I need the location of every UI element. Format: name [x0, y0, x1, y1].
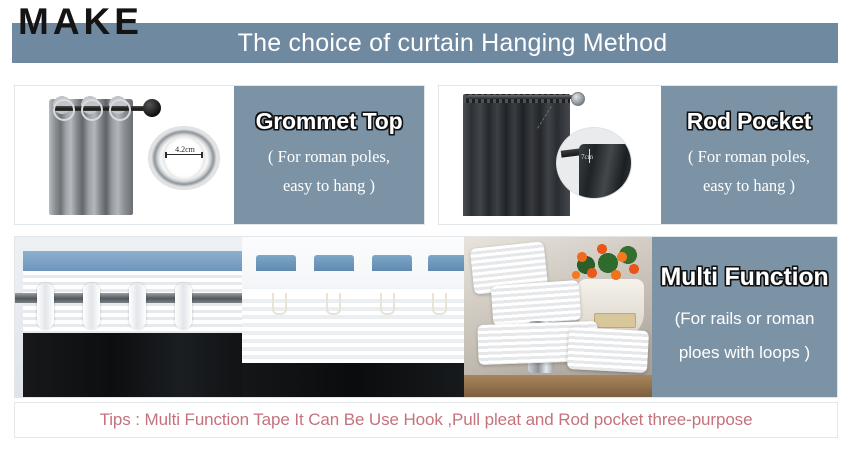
grommet-dimension-arrow-icon — [165, 154, 203, 155]
tips-text: Tips : Multi Function Tape It Can Be Use… — [100, 410, 753, 430]
tape-roll — [491, 280, 582, 326]
valance-rail-illustration — [15, 237, 242, 397]
black-curtain-body — [242, 363, 464, 397]
pleat-tape-hooks-illustration — [242, 237, 464, 397]
rod-pocket-label-panel: Rod Pocket ( For roman poles, easy to ha… — [661, 86, 837, 224]
rod-pocket-photo-canvas: 7cm — [439, 86, 661, 224]
wood-table-surface — [464, 375, 652, 397]
multi-function-photo-1 — [15, 237, 242, 397]
grommet-top-title: Grommet Top — [256, 108, 403, 135]
blue-pleat-fold — [428, 255, 464, 271]
multi-function-subtitle-line1: (For rails or roman — [675, 302, 815, 336]
blue-pleat-fold — [372, 255, 412, 271]
rod-pocket-closeup: 7cm — [556, 127, 632, 199]
black-curtain-body — [23, 333, 242, 397]
multi-function-title: Multi Function — [661, 263, 829, 292]
tape-roll — [567, 327, 649, 373]
grommet-ring-icon — [109, 99, 131, 121]
card-rod-pocket: 7cm Rod Pocket ( For roman poles, easy t… — [438, 85, 838, 225]
grommet-ring-icon — [53, 99, 75, 121]
rod-pocket-subtitle-line2: easy to hang ) — [703, 172, 795, 201]
multi-function-subtitle-line2: ploes with loops ) — [679, 336, 810, 370]
curtain-hook-icon — [175, 283, 192, 329]
curtain-rod-icon — [466, 95, 574, 99]
brand-logo: MAKE — [18, 2, 143, 42]
blue-pleat-fold — [256, 255, 296, 271]
grommet-top-subtitle-line2: easy to hang ) — [283, 172, 375, 201]
multi-function-photo-3 — [464, 237, 652, 397]
curtain-hook-icon — [37, 283, 54, 329]
grommet-photo-canvas: 4.2cm — [15, 86, 234, 224]
curtain-hook-icon — [326, 293, 341, 315]
rod-pocket-photo: 7cm — [439, 86, 661, 224]
blue-pleat-fold — [314, 255, 354, 271]
multi-function-photo-2 — [242, 237, 464, 397]
grommet-ring-icon — [81, 99, 103, 121]
card-grommet-top: 4.2cm Grommet Top ( For roman poles, eas… — [14, 85, 425, 225]
curtain-hook-icon — [129, 283, 146, 329]
grommet-ring-hole — [163, 136, 205, 180]
orange-flowers-icon — [568, 241, 646, 289]
infographic-root: The choice of curtain Hanging Method MAK… — [0, 0, 850, 456]
curtain-hook-icon — [83, 283, 100, 329]
grommet-top-photo: 4.2cm — [15, 86, 234, 224]
curtain-hook-icon — [380, 293, 395, 315]
curtain-hook-icon — [432, 293, 447, 315]
folded-tapes-illustration — [464, 237, 652, 397]
tips-bar: Tips : Multi Function Tape It Can Be Use… — [14, 402, 838, 438]
rod-finial-icon — [143, 99, 161, 117]
grommet-dimension-label: 4.2cm — [167, 145, 203, 154]
rod-pocket-title: Rod Pocket — [687, 108, 812, 135]
curtain-hook-icon — [272, 293, 287, 315]
rod-finial-icon — [571, 92, 585, 106]
card-multi-function: Multi Function (For rails or roman ploes… — [14, 236, 838, 398]
rod-pocket-subtitle-line1: ( For roman poles, — [688, 143, 810, 172]
rod-pocket-dimension-label: 7cm — [581, 153, 593, 161]
flower-pot-label — [594, 313, 636, 328]
grommet-top-subtitle-line1: ( For roman poles, — [268, 143, 390, 172]
grommet-top-label-panel: Grommet Top ( For roman poles, easy to h… — [234, 86, 424, 224]
multi-function-label-panel: Multi Function (For rails or roman ploes… — [652, 237, 837, 397]
